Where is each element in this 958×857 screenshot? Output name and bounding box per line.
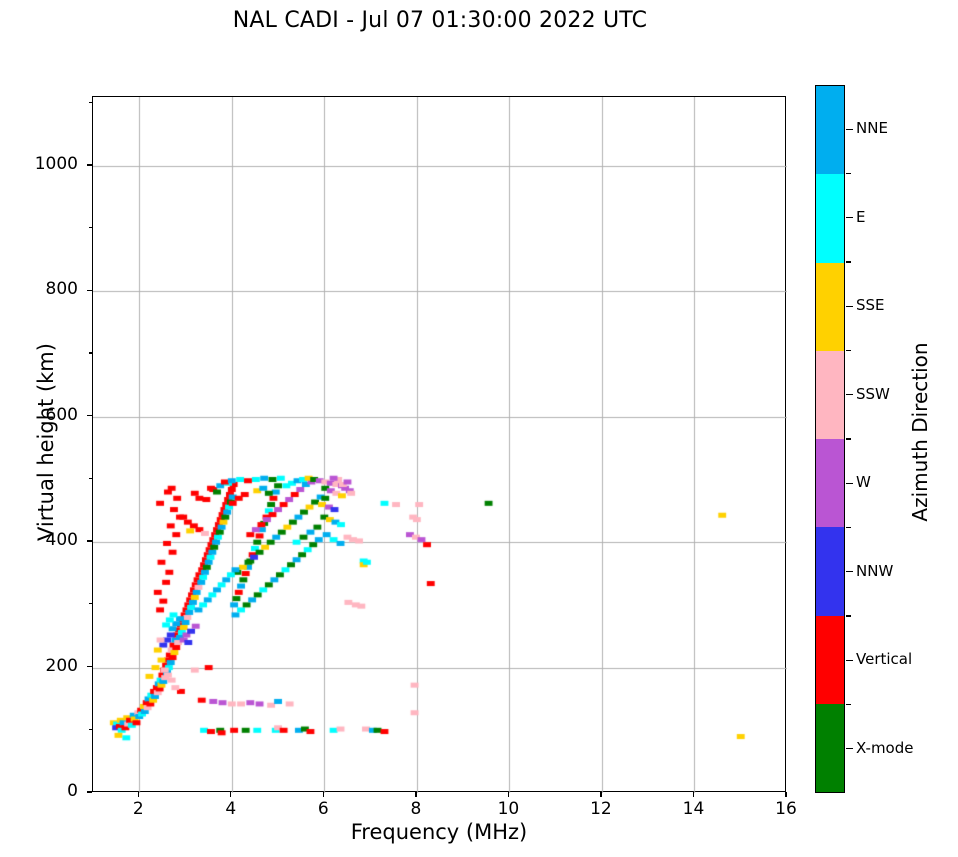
y-minor-tick [89, 352, 92, 353]
x-tick-mark [693, 792, 694, 797]
colorbar-band-w[interactable] [816, 439, 844, 527]
colorbar-tick [846, 217, 853, 218]
colorbar-band-e[interactable] [816, 174, 844, 262]
page-title: NAL CADI - Jul 07 01:30:00 2022 UTC [0, 8, 880, 33]
colorbar-band-nnw[interactable] [816, 527, 844, 615]
colorbar-boundary-tick [846, 350, 851, 351]
plot-axes-area [92, 96, 786, 792]
colorbar-label-w: W [856, 473, 871, 491]
colorbar-tick [846, 306, 853, 307]
y-tick-mark [87, 415, 92, 416]
colorbar-title: Azimuth Direction [908, 282, 932, 582]
colorbar-boundary-tick [846, 615, 851, 616]
colorbar-tick [846, 394, 853, 395]
x-tick-mark [785, 792, 786, 797]
colorbar-band-nne[interactable] [816, 86, 844, 174]
colorbar-boundary-tick [846, 261, 851, 262]
y-tick-mark [87, 290, 92, 291]
x-tick-label: 4 [201, 799, 261, 819]
x-tick-mark [415, 792, 416, 797]
x-tick-mark [508, 792, 509, 797]
colorbar-band-sse[interactable] [816, 263, 844, 351]
x-tick-label: 2 [108, 799, 168, 819]
colorbar-tick [846, 660, 853, 661]
colorbar-label-nne: NNE [856, 119, 888, 137]
y-tick-mark [87, 540, 92, 541]
x-tick-label: 12 [571, 799, 631, 819]
x-tick-label: 6 [293, 799, 353, 819]
colorbar-boundary-tick [846, 438, 851, 439]
colorbar-tick [846, 483, 853, 484]
colorbar-band-vertical[interactable] [816, 616, 844, 704]
colorbar-label-x-mode: X-mode [856, 739, 913, 757]
y-tick-mark [87, 164, 92, 165]
colorbar-tick [846, 571, 853, 572]
colorbar-tick [846, 748, 853, 749]
x-tick-label: 10 [478, 799, 538, 819]
colorbar-label-e: E [856, 208, 865, 226]
y-tick-mark [87, 791, 92, 792]
x-tick-mark [230, 792, 231, 797]
colorbar-band-x-mode[interactable] [816, 704, 844, 792]
y-minor-tick [89, 227, 92, 228]
x-tick-mark [323, 792, 324, 797]
x-tick-mark [600, 792, 601, 797]
y-axis-label: Virtual height (km) [34, 292, 58, 592]
colorbar-label-sse: SSE [856, 296, 885, 314]
x-axis-label: Frequency (MHz) [92, 820, 786, 844]
y-minor-tick [89, 478, 92, 479]
colorbar-boundary-tick [846, 704, 851, 705]
y-minor-tick [89, 729, 92, 730]
colorbar-band-ssw[interactable] [816, 351, 844, 439]
x-tick-label: 8 [386, 799, 446, 819]
y-minor-tick [89, 102, 92, 103]
x-tick-label: 16 [756, 799, 816, 819]
azimuth-colorbar[interactable] [815, 85, 845, 793]
x-tick-mark [138, 792, 139, 797]
y-tick-label: 0 [0, 781, 78, 801]
y-tick-label: 1000 [0, 154, 78, 174]
colorbar-boundary-tick [846, 527, 851, 528]
colorbar-label-vertical: Vertical [856, 650, 912, 668]
colorbar-boundary-tick [846, 173, 851, 174]
colorbar-label-ssw: SSW [856, 385, 890, 403]
y-minor-tick [89, 603, 92, 604]
y-tick-mark [87, 666, 92, 667]
ionogram-plot: NAL CADI - Jul 07 01:30:00 2022 UTC 2468… [0, 0, 958, 857]
x-tick-label: 14 [663, 799, 723, 819]
colorbar-label-nnw: NNW [856, 562, 893, 580]
colorbar-tick [846, 129, 853, 130]
y-tick-label: 200 [0, 656, 78, 676]
scatter-data-layer [93, 97, 787, 793]
